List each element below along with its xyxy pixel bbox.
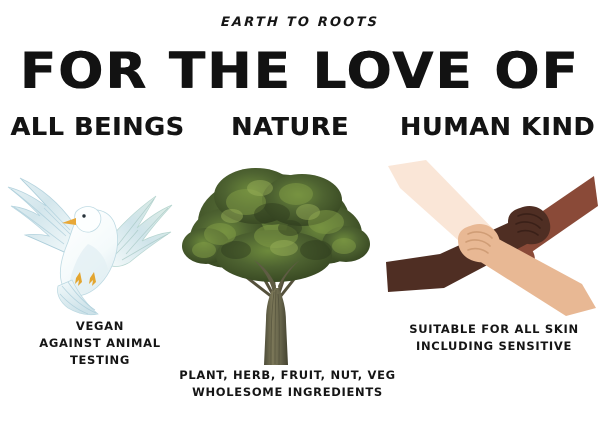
tree-illustration (176, 150, 372, 365)
caption-human-kind: SUITABLE FOR ALL SKIN INCLUDING SENSITIV… (388, 321, 600, 355)
caption-all-beings: VEGAN AGAINST ANIMAL TESTING (10, 318, 190, 369)
linked-arms-illustration (382, 158, 600, 320)
brand-tagline: EARTH TO ROOTS (0, 15, 600, 30)
column-heading-human-kind: HUMAN KIND (393, 113, 600, 141)
column-heading-all-beings: ALL BEINGS (0, 113, 197, 141)
caption-nature: PLANT, HERB, FRUIT, NUT, VEG WHOLESOME I… (160, 367, 415, 401)
column-heading-nature: NATURE (203, 113, 376, 141)
page-headline: FOR THE LOVE OF (0, 44, 600, 98)
dove-illustration (2, 152, 182, 327)
poster-canvas: EARTH TO ROOTS FOR THE LOVE OF ALL BEING… (0, 0, 600, 426)
